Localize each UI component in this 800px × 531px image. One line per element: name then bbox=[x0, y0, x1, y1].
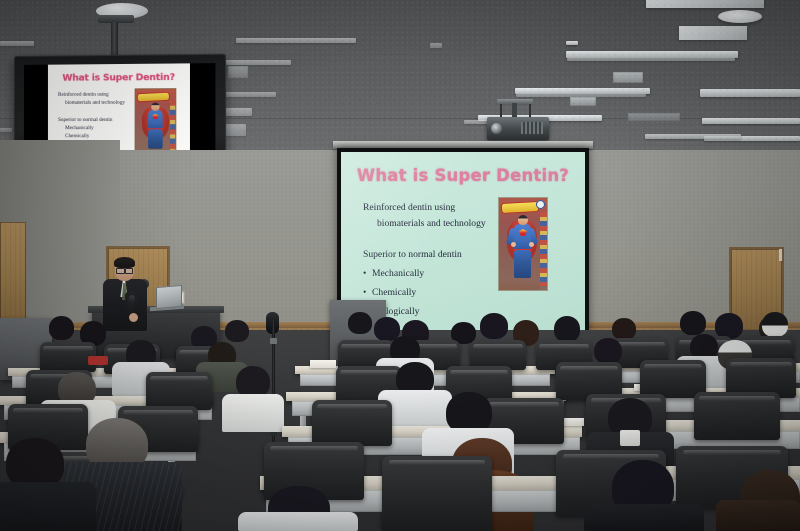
ceiling-light-panel bbox=[679, 26, 747, 40]
monitor-slide-comic-image bbox=[135, 88, 177, 151]
slide-subhead: Superior to normal dentin bbox=[363, 247, 511, 263]
ceiling-light-strip bbox=[566, 41, 578, 45]
monitor-slide-line1: Reinforced dentin using bbox=[58, 90, 138, 99]
chair bbox=[146, 372, 212, 410]
attendee-head bbox=[594, 338, 622, 364]
attendee-torso bbox=[584, 504, 704, 531]
monitor-slide-line2: biomaterials and technology bbox=[58, 99, 138, 107]
attendee-torso bbox=[222, 394, 284, 432]
ceiling-light-strip bbox=[704, 136, 800, 141]
ceiling-light-panel bbox=[646, 0, 764, 8]
projector-lens bbox=[491, 123, 502, 134]
ceiling-light-strip bbox=[222, 92, 276, 97]
monitor-slide-title: What is Super Dentin? bbox=[48, 73, 190, 84]
comic-side-strip bbox=[540, 212, 547, 286]
door-frame-highlight bbox=[779, 249, 782, 261]
handbag bbox=[88, 356, 108, 365]
attendee-torso bbox=[238, 512, 358, 531]
ceiling-light-strip bbox=[700, 89, 800, 97]
ceiling-vent bbox=[228, 66, 248, 78]
slide-line-2: biomaterials and technology bbox=[363, 216, 511, 232]
slide-bullet: Mechanically bbox=[363, 266, 511, 282]
presenter-hair bbox=[114, 257, 135, 268]
attendee-head bbox=[680, 311, 706, 335]
ceiling-vent bbox=[570, 97, 596, 106]
comic-legs bbox=[514, 250, 531, 278]
monitor-slide-subhead: Superior to normal dentin bbox=[58, 116, 138, 124]
projector bbox=[487, 117, 549, 140]
comic-torso bbox=[514, 224, 531, 252]
ceiling-light-strip bbox=[515, 88, 650, 94]
ceiling-light-strip bbox=[0, 41, 34, 46]
chair bbox=[312, 400, 392, 446]
wood-wall-panel bbox=[0, 222, 26, 328]
chair bbox=[694, 392, 780, 440]
ceiling-light-strip bbox=[225, 60, 291, 65]
comic-fist bbox=[511, 242, 516, 247]
attendee-head bbox=[762, 312, 788, 337]
monitor-slide-bullet: Mechanically bbox=[58, 124, 138, 132]
presenter bbox=[98, 255, 152, 327]
ceiling-light-strip bbox=[430, 43, 442, 48]
comic-fist bbox=[529, 242, 534, 247]
projector-vent bbox=[521, 122, 543, 134]
ceiling-dome-light bbox=[718, 10, 762, 23]
comic-corner-badge bbox=[536, 200, 545, 209]
attendee-head bbox=[348, 312, 372, 334]
attendee-head bbox=[612, 318, 636, 340]
attendee-head bbox=[49, 316, 74, 340]
tv-mount-pole bbox=[111, 22, 118, 59]
ceiling-light-strip bbox=[0, 128, 12, 132]
ceiling-vent bbox=[628, 113, 680, 121]
mic-stand-joint bbox=[270, 338, 277, 344]
attendee-head bbox=[554, 316, 580, 342]
ceiling-light-strip bbox=[236, 38, 356, 43]
ceiling-light-strip bbox=[702, 118, 800, 124]
ceiling-light-strip bbox=[566, 51, 738, 58]
slide-line-1: Reinforced dentin using bbox=[363, 200, 511, 216]
slide-bullet: Chemically bbox=[363, 285, 511, 301]
attendee-head bbox=[225, 320, 249, 342]
attendee-head bbox=[480, 313, 508, 339]
presenter-laptop[interactable] bbox=[156, 285, 182, 309]
slide-comic-image bbox=[499, 198, 547, 290]
attendee-torso bbox=[716, 500, 800, 531]
comic-logo bbox=[502, 202, 538, 213]
attendee-torso bbox=[0, 482, 96, 531]
ceiling-light-strip bbox=[516, 94, 646, 97]
presenter-hand bbox=[129, 313, 138, 322]
presenter-glasses bbox=[116, 268, 133, 272]
ceiling-vent bbox=[613, 72, 643, 83]
ceiling-light-strip bbox=[645, 134, 741, 139]
slide-title: What is Super Dentin? bbox=[341, 166, 585, 185]
papers bbox=[310, 360, 336, 368]
chair bbox=[382, 456, 492, 531]
ceiling-light-strip bbox=[224, 108, 252, 116]
ceiling-light-strip bbox=[567, 58, 735, 61]
lecture-hall-photo: What is Super Dentin? Reinforced dentin … bbox=[0, 0, 800, 531]
comic-head bbox=[518, 215, 528, 225]
comic-bottom-band bbox=[499, 280, 540, 290]
attendee-collar bbox=[620, 430, 640, 446]
